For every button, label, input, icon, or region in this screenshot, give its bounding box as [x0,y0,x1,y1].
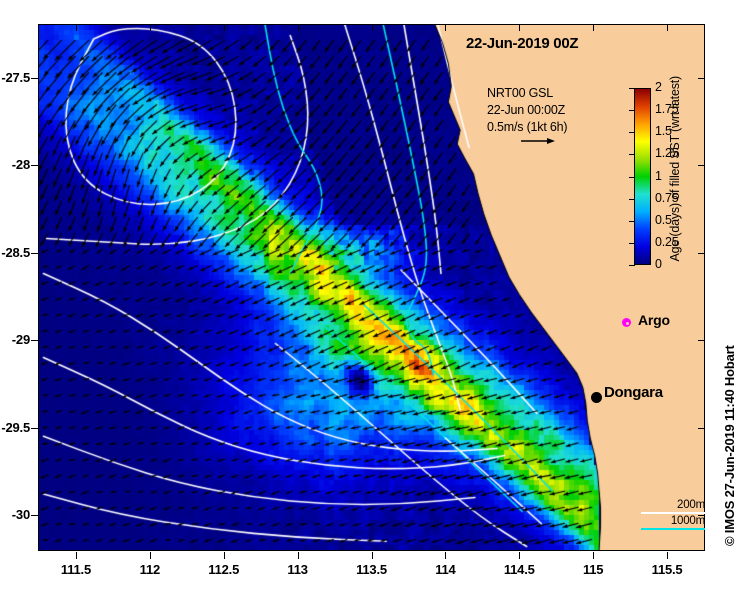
argo-float-marker[interactable] [622,318,631,327]
x-tick-top [372,24,373,31]
legend-label-200m: 200m [677,498,705,513]
annotation-line-2: 22-Jun 00:00Z [487,102,567,119]
legend-label-1000m: 1000m [671,514,705,529]
x-tick [224,552,225,559]
x-tick [298,552,299,559]
map-title: 22-Jun-2019 00Z [466,35,578,52]
y-tick [31,78,38,79]
colorbar-tick [629,243,635,244]
dongara-label: Dongara [604,384,663,401]
depth-contour-legend: 200m 1000m [641,498,705,530]
y-tick [31,253,38,254]
colorbar-tick-label: 0 [655,257,662,271]
x-axis-label: 115 [563,562,623,577]
x-axis-label: 113 [268,562,328,577]
x-tick-top [76,24,77,31]
x-tick [445,552,446,559]
x-tick-top [519,24,520,31]
colorbar-tick-label: 2 [655,80,662,94]
y-tick-right [698,165,705,166]
y-tick-right [698,428,705,429]
x-tick-top [667,24,668,31]
colorbar[interactable]: 00.250.50.7511.251.51.752 [634,88,651,265]
y-tick [31,515,38,516]
x-axis-label: 115.5 [637,562,697,577]
y-tick [31,340,38,341]
x-tick-top [298,24,299,31]
copyright-text: © IMOS 27-Jun-2019 11:40 Hobart [722,345,737,546]
colorbar-tick [629,132,635,133]
y-tick [31,428,38,429]
y-tick-right [698,78,705,79]
x-tick-top [445,24,446,31]
colorbar-gradient [634,88,651,265]
x-axis-label: 111.5 [46,562,106,577]
x-tick-top [224,24,225,31]
colorbar-tick [629,265,635,266]
argo-label: Argo [638,312,670,328]
x-axis-label: 112 [120,562,180,577]
colorbar-tick [629,110,635,111]
y-axis-label: -28.5 [0,245,30,260]
dongara-town-marker[interactable] [591,392,602,403]
colorbar-tick [629,88,635,89]
x-tick [372,552,373,559]
x-tick-top [593,24,594,31]
y-tick [31,165,38,166]
y-tick-right [698,340,705,341]
legend-line-1000m [641,528,705,530]
x-tick [593,552,594,559]
model-annotation: NRT00 GSL 22-Jun 00:00Z 0.5m/s (1kt 6h) [487,85,567,136]
y-axis-label: -27.5 [0,70,30,85]
x-tick [519,552,520,559]
colorbar-tick-label: 1 [655,169,662,183]
colorbar-tick [629,221,635,222]
x-tick [150,552,151,559]
legend-row-1000m: 1000m [641,514,705,530]
x-axis-label: 112.5 [194,562,254,577]
map-plot-area[interactable] [38,24,705,551]
y-axis-label: -29 [0,332,30,347]
vector-scale-arrow-icon [521,136,555,146]
x-tick [667,552,668,559]
colorbar-tick [629,199,635,200]
colorbar-title: Age (days) of filled SST (wrt latest) [668,76,682,262]
x-axis-label: 113.5 [342,562,402,577]
sst-age-raster-map[interactable] [39,25,704,550]
colorbar-tick [629,154,635,155]
annotation-line-3: 0.5m/s (1kt 6h) [487,119,567,136]
x-axis-label: 114.5 [489,562,549,577]
x-tick-top [150,24,151,31]
y-tick-right [698,253,705,254]
annotation-line-1: NRT00 GSL [487,85,567,102]
y-axis-label: -29.5 [0,420,30,435]
x-tick [76,552,77,559]
y-axis-label: -30 [0,507,30,522]
colorbar-tick [629,177,635,178]
legend-row-200m: 200m [641,498,705,514]
figure-root: 111.5112112.5113113.5114114.5115115.5-27… [0,0,739,592]
y-axis-label: -28 [0,157,30,172]
x-axis-label: 114 [415,562,475,577]
